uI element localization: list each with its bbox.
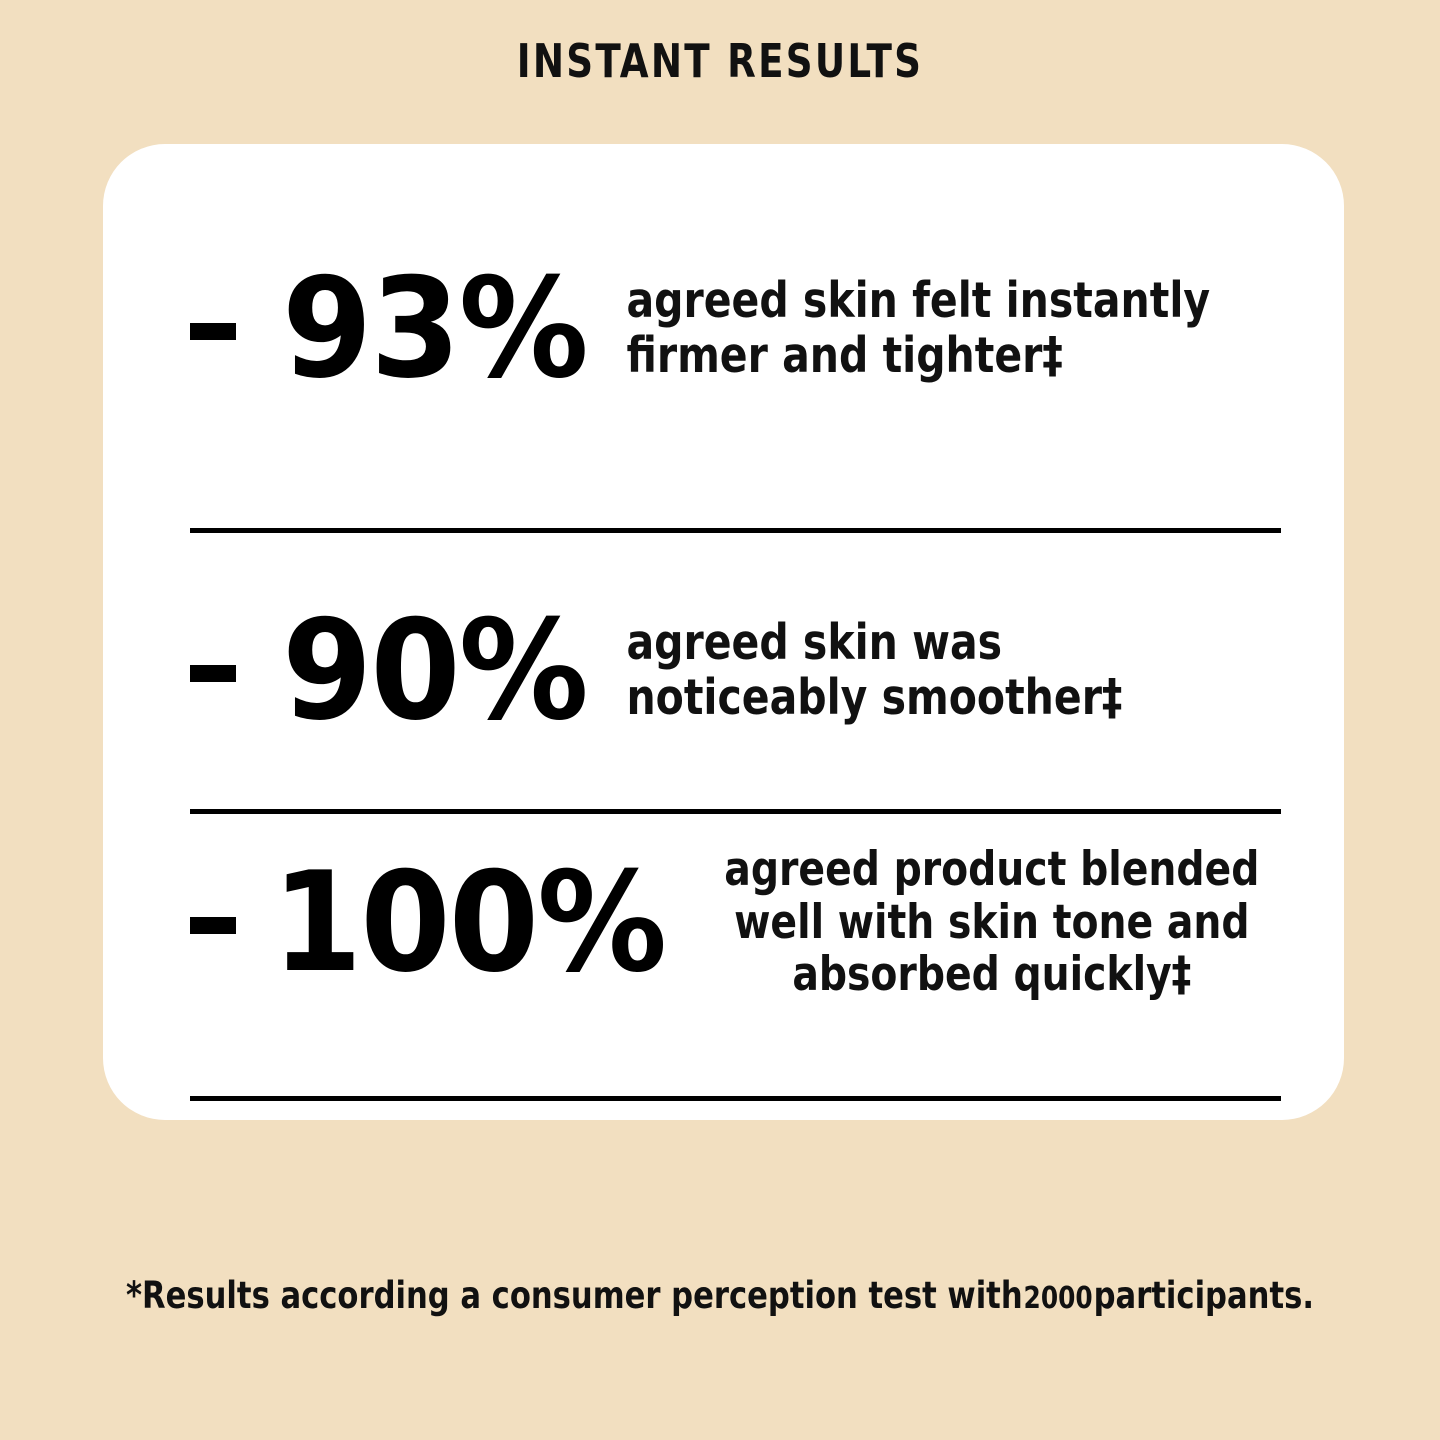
footnote: *Results according a consumer perception…: [58, 1275, 1383, 1318]
stat-value: 90%: [282, 606, 587, 736]
stat-row: 100% agreed product blended well with sk…: [103, 844, 1344, 1119]
page-title: INSTANT RESULTS: [72, 36, 1368, 87]
stat-value: 93%: [282, 264, 587, 394]
dash-marker-icon: [190, 323, 236, 340]
stat-divider: [190, 528, 1281, 533]
stat-row: 93% agreed skin felt instantly firmer an…: [103, 264, 1344, 554]
stat-divider: [190, 1096, 1281, 1101]
stat-row-content: 90% agreed skin was noticeably smoother‡: [190, 606, 1281, 736]
stat-description: agreed product blended well with skin to…: [711, 844, 1260, 1002]
footnote-prefix: *Results according a consumer perception…: [126, 1274, 1023, 1317]
stat-row-content: 93% agreed skin felt instantly firmer an…: [190, 264, 1281, 394]
stat-row: 90% agreed skin was noticeably smoother‡: [103, 606, 1344, 836]
results-card: 93% agreed skin felt instantly firmer an…: [103, 144, 1344, 1120]
stat-description: agreed skin felt instantly firmer and ti…: [606, 274, 1233, 384]
dash-marker-icon: [190, 665, 236, 682]
stat-value: 100%: [272, 858, 665, 988]
footnote-suffix: participants.: [1094, 1274, 1314, 1317]
stat-divider: [190, 809, 1281, 814]
stat-description: agreed skin was noticeably smoother‡: [606, 616, 1233, 726]
results-infographic: INSTANT RESULTS 93% agreed skin felt ins…: [0, 0, 1440, 1440]
footnote-participant-count: 2000: [1023, 1281, 1094, 1316]
dash-marker-icon: [190, 917, 236, 934]
stat-row-content: 100% agreed product blended well with sk…: [190, 844, 1281, 1002]
